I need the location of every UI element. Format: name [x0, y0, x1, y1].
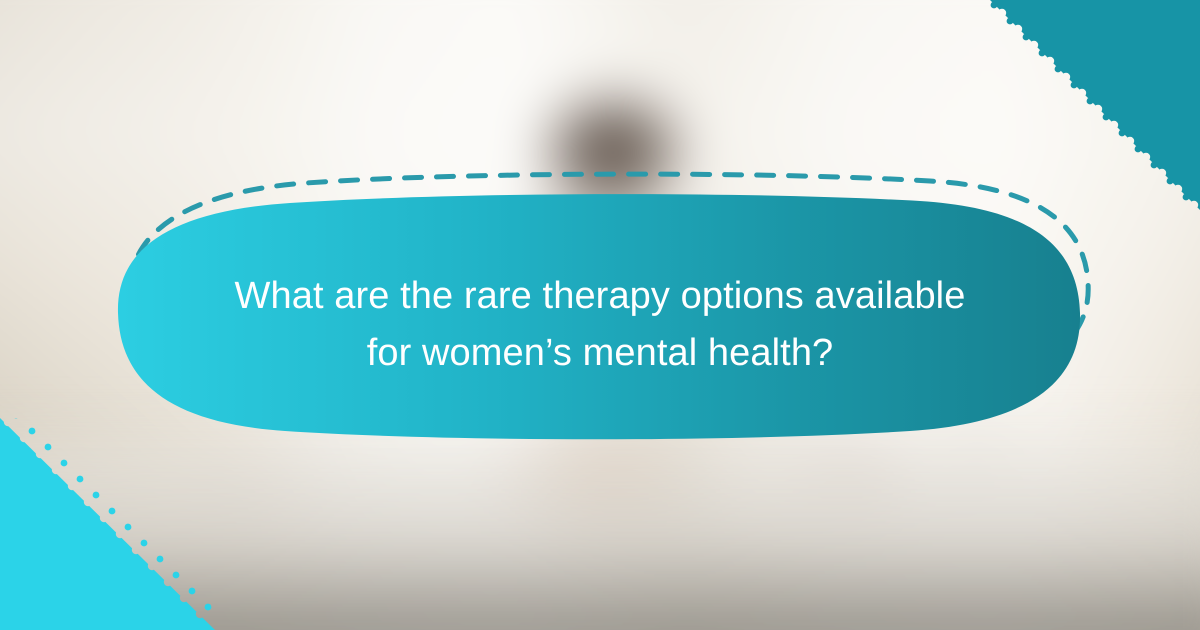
- page-title: What are the rare therapy options availa…: [130, 268, 1070, 382]
- social-card: What are the rare therapy options availa…: [0, 0, 1200, 630]
